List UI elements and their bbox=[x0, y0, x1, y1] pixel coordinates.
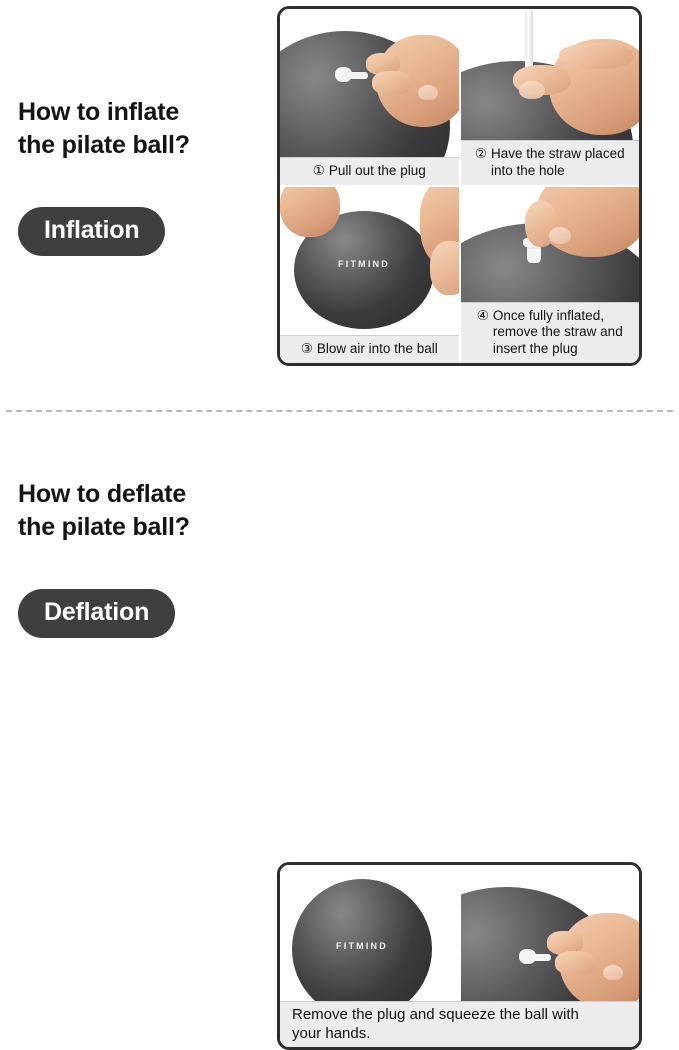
step-3-text: Blow air into the ball bbox=[317, 341, 438, 357]
step-3-number: ③ bbox=[301, 341, 313, 357]
step-1-number: ① bbox=[313, 163, 325, 179]
inflation-heading: How to inflate the pilate ball? bbox=[18, 96, 190, 162]
deflation-text-column: How to deflate the pilate ball? Deflatio… bbox=[0, 412, 270, 644]
step-2-caption: ② Have the straw placed into the hole bbox=[461, 140, 640, 185]
step-panel-1: ① Pull out the plug bbox=[280, 9, 460, 186]
deflation-step-grid: FITMIND Remove the plug and squeeze the … bbox=[277, 862, 642, 1050]
inflation-section: How to inflate the pilate ball? Inflatio… bbox=[0, 0, 679, 410]
step-panel-3: FITMIND ③ Blow air into the ball bbox=[280, 186, 460, 363]
step-4-text: Once fully inflated, remove the straw an… bbox=[493, 308, 623, 357]
deflation-section: How to deflate the pilate ball? Deflatio… bbox=[0, 412, 679, 644]
step-4-number: ④ bbox=[477, 308, 489, 324]
deflation-heading: How to deflate the pilate ball? bbox=[18, 478, 190, 544]
deflation-badge: Deflation bbox=[18, 589, 175, 638]
ball-logo-deflation: FITMIND bbox=[292, 941, 432, 951]
deflation-caption-text: Remove the plug and squeeze the ball wit… bbox=[292, 1006, 579, 1044]
inflation-badge: Inflation bbox=[18, 207, 165, 256]
step-1-text: Pull out the plug bbox=[329, 163, 426, 179]
step-2-number: ② bbox=[475, 146, 487, 162]
step-panel-2: ② Have the straw placed into the hole bbox=[460, 9, 640, 186]
step-2-text: Have the straw placed into the hole bbox=[491, 146, 625, 179]
ball-logo-step-3: FITMIND bbox=[294, 259, 434, 269]
step-3-caption: ③ Blow air into the ball bbox=[280, 335, 459, 363]
step-1-caption: ① Pull out the plug bbox=[280, 157, 459, 185]
step-panel-4: ④ Once fully inflated, remove the straw … bbox=[460, 186, 640, 363]
deflation-caption: Remove the plug and squeeze the ball wit… bbox=[280, 1001, 639, 1047]
inflation-step-grid: ① Pull out the plug ② Have the straw pla… bbox=[277, 6, 642, 366]
step-4-caption: ④ Once fully inflated, remove the straw … bbox=[461, 302, 640, 363]
inflation-text-column: How to inflate the pilate ball? Inflatio… bbox=[0, 0, 270, 410]
